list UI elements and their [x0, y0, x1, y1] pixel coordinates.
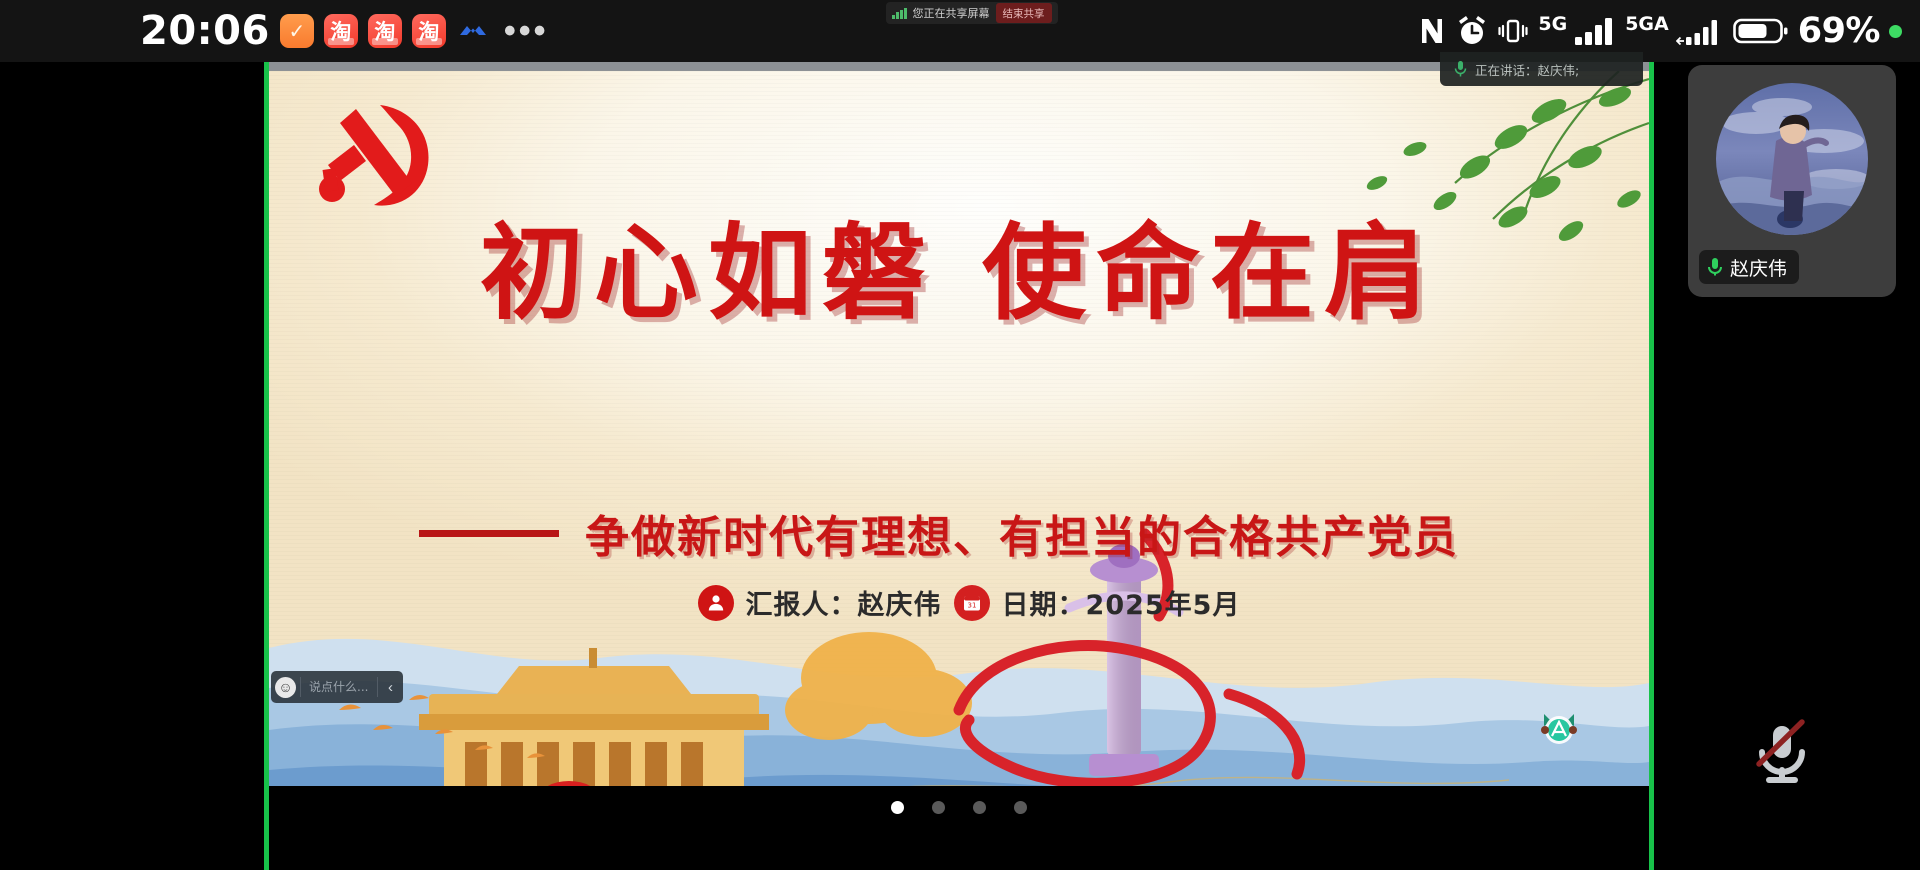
page-dot-2[interactable] — [932, 801, 945, 814]
alarm-clock-icon — [1456, 14, 1488, 48]
slide-pagination — [269, 786, 1649, 828]
screen-share-toast: 您正在共享屏幕 结束共享 — [886, 2, 1058, 24]
microphone-on-icon — [1707, 257, 1723, 277]
participant-name: 赵庆伟 — [1730, 254, 1787, 281]
shared-screen-stage[interactable]: 初心如磐 使命在肩 争做新时代有理想、有担当的合格共产党员 汇报人：赵庆伟 31 — [269, 27, 1649, 870]
taobao-icon-2[interactable] — [368, 14, 402, 48]
calendar-icon: 31 — [954, 585, 990, 621]
end-share-button[interactable]: 结束共享 — [996, 3, 1052, 23]
vibrate-icon — [1497, 14, 1529, 48]
more-notifications-icon[interactable]: ••• — [504, 20, 549, 42]
microphone-muted-icon[interactable] — [1742, 712, 1822, 792]
health-heart-icon[interactable] — [280, 14, 314, 48]
smiley-icon[interactable]: ☺ — [275, 677, 296, 698]
svg-text:31: 31 — [967, 601, 976, 609]
comment-input[interactable]: 说点什么... — [300, 677, 378, 697]
participant-name-badge: 赵庆伟 — [1699, 250, 1799, 284]
comment-input-bar[interactable]: ☺ 说点什么... ‹ — [271, 671, 403, 703]
slide-subtitle-row: 争做新时代有理想、有担当的合格共产党员 — [269, 501, 1649, 565]
battery-icon — [1733, 15, 1789, 47]
status-bar-left: 20:06 ••• — [140, 0, 549, 62]
phone-screen: 20:06 ••• — [0, 0, 1920, 870]
battery-percent-label: 69% — [1798, 11, 1880, 51]
cpc-party-emblem-icon — [314, 99, 439, 214]
presentation-slide[interactable]: 初心如磐 使命在肩 争做新时代有理想、有担当的合格共产党员 汇报人：赵庆伟 31 — [269, 71, 1649, 828]
page-dot-3[interactable] — [973, 801, 986, 814]
date-label: 日期：2025年5月 — [1002, 583, 1241, 622]
signal-5ga-icon: 5GA — [1625, 16, 1724, 46]
signal-5g-icon: 5G — [1538, 16, 1616, 46]
speaking-now-popup: 正在讲话：赵庆伟; — [1440, 52, 1643, 86]
share-toast-text: 您正在共享屏幕 — [913, 5, 990, 21]
self-mute-button[interactable] — [1742, 712, 1822, 792]
page-dot-1[interactable] — [891, 801, 904, 814]
meituan-chevron-icon[interactable] — [456, 14, 490, 48]
slide-title: 初心如磐 使命在肩 — [269, 221, 1649, 325]
chevron-left-icon[interactable]: ‹ — [382, 679, 399, 696]
person-icon — [698, 585, 734, 621]
speaking-now-text: 正在讲话：赵庆伟; — [1475, 60, 1579, 79]
page-dot-4[interactable] — [1014, 801, 1027, 814]
nfc-icon — [1417, 14, 1447, 48]
subtitle-rule — [419, 530, 559, 537]
participant-video-tile[interactable]: 赵庆伟 — [1688, 65, 1896, 297]
slide-subtitle: 争做新时代有理想、有担当的合格共产党员 — [585, 501, 1459, 565]
avatar — [1716, 83, 1868, 235]
signal-bars-icon — [892, 8, 907, 19]
recording-indicator-dot — [1889, 25, 1902, 38]
taobao-icon-3[interactable] — [412, 14, 446, 48]
presenter-label: 汇报人：赵庆伟 — [746, 583, 942, 622]
slide-meta-row: 汇报人：赵庆伟 31 日期：2025年5月 — [269, 583, 1649, 622]
status-bar-clock: 20:06 — [140, 8, 270, 54]
microphone-icon — [1454, 60, 1467, 78]
cat-logo-watermark-icon — [1537, 710, 1581, 750]
taobao-icon-1[interactable] — [324, 14, 358, 48]
